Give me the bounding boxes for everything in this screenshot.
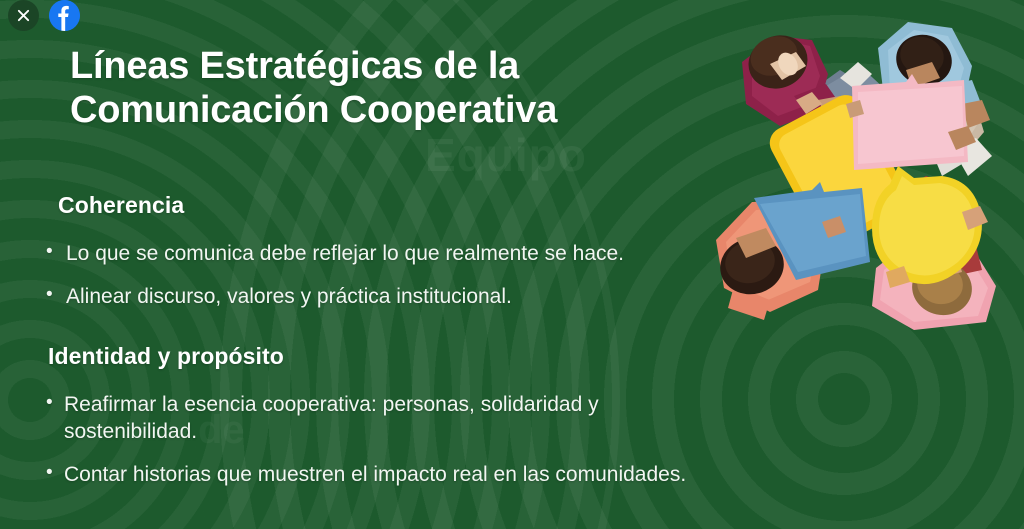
close-button[interactable] (8, 0, 39, 31)
list-item: Reafirmar la esencia cooperativa: person… (0, 392, 720, 446)
facebook-button[interactable] (49, 0, 80, 31)
section-coherencia: Coherencia Lo que se comunica debe refle… (0, 192, 720, 327)
slide-canvas: Equipo de (0, 0, 1024, 529)
team-photo (700, 0, 1024, 330)
bullet-list: Lo que se comunica debe reflejar lo que … (0, 241, 720, 311)
close-icon (16, 8, 31, 23)
section-heading: Identidad y propósito (48, 343, 720, 370)
list-item: Contar historias que muestren el impacto… (0, 462, 720, 489)
person-top-left (740, 27, 914, 253)
list-item: Alinear discurso, valores y práctica ins… (0, 284, 720, 311)
section-identidad: Identidad y propósito Reafirmar la esenc… (0, 343, 720, 505)
facebook-icon (49, 0, 80, 31)
slide-content: Líneas Estratégicas de la Comunicación C… (0, 0, 720, 529)
overlay-controls (0, 0, 80, 34)
section-heading: Coherencia (58, 192, 720, 219)
list-item: Lo que se comunica debe reflejar lo que … (0, 241, 720, 268)
person-bottom-left (714, 182, 870, 320)
person-top-right (846, 22, 992, 176)
page-title: Líneas Estratégicas de la Comunicación C… (70, 44, 690, 133)
person-bottom-right (872, 166, 996, 330)
bullet-list: Reafirmar la esencia cooperativa: person… (0, 392, 720, 489)
